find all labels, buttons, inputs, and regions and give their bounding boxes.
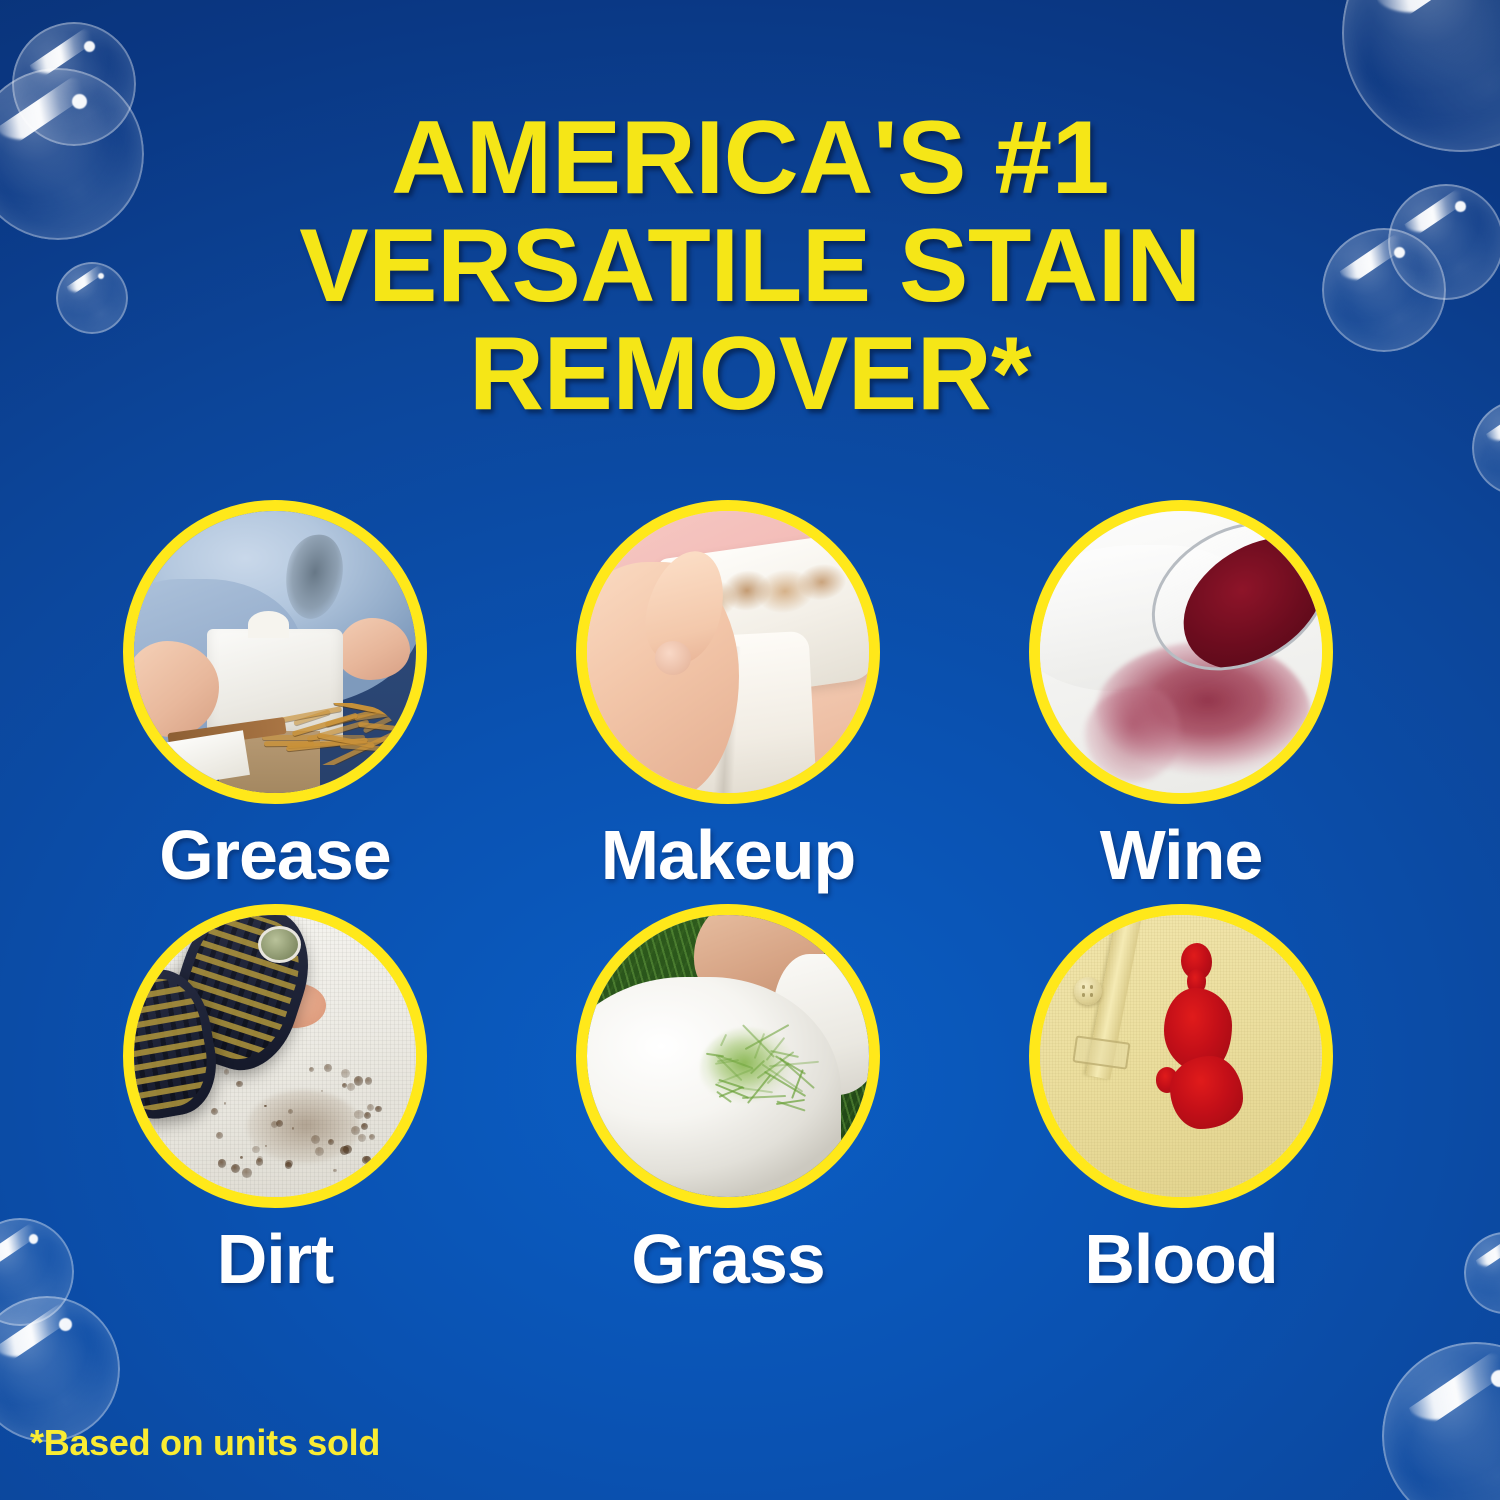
blood-scene-art	[1040, 915, 1322, 1197]
wine-scene-art	[1040, 511, 1322, 793]
dirt-scene-art	[134, 915, 416, 1197]
bubble-bottom-right-icon	[1382, 1342, 1500, 1500]
makeup-scene-art	[587, 511, 869, 793]
stain-label-grass: Grass	[631, 1224, 824, 1294]
bubble-left-lower-b-icon	[0, 1296, 120, 1442]
stain-type-grid: Grease Make	[120, 500, 1390, 1308]
headline-line-1: AMERICA'S #1	[60, 104, 1440, 212]
stain-item-blood: Blood	[1026, 904, 1336, 1294]
grass-scene-art	[587, 915, 869, 1197]
stain-item-dirt: Dirt	[120, 904, 430, 1294]
stain-label-wine: Wine	[1100, 820, 1263, 890]
makeup-photo	[576, 500, 880, 804]
bubble-right-lower-icon	[1464, 1232, 1500, 1314]
stain-item-makeup: Makeup	[573, 500, 883, 890]
stain-label-dirt: Dirt	[217, 1224, 334, 1294]
stain-label-grease: Grease	[159, 820, 390, 890]
headline-line-3: REMOVER*	[60, 320, 1440, 428]
stain-row-bottom: Dirt Grass	[120, 904, 1390, 1294]
headline-line-2: VERSATILE STAIN	[60, 212, 1440, 320]
dirt-photo	[123, 904, 427, 1208]
stain-remover-poster: AMERICA'S #1 VERSATILE STAIN REMOVER*	[0, 0, 1500, 1500]
grease-scene-art	[134, 511, 416, 793]
page-title: AMERICA'S #1 VERSATILE STAIN REMOVER*	[0, 104, 1500, 428]
stain-label-blood: Blood	[1084, 1224, 1277, 1294]
stain-item-grass: Grass	[573, 904, 883, 1294]
footnote-disclaimer: *Based on units sold	[30, 1422, 380, 1464]
stain-row-top: Grease Make	[120, 500, 1390, 890]
stain-item-wine: Wine	[1026, 500, 1336, 890]
stain-item-grease: Grease	[120, 500, 430, 890]
wine-photo	[1029, 500, 1333, 804]
grass-photo	[576, 904, 880, 1208]
grease-photo	[123, 500, 427, 804]
stain-label-makeup: Makeup	[601, 820, 856, 890]
blood-photo	[1029, 904, 1333, 1208]
bubble-left-lower-a-icon	[0, 1218, 74, 1326]
